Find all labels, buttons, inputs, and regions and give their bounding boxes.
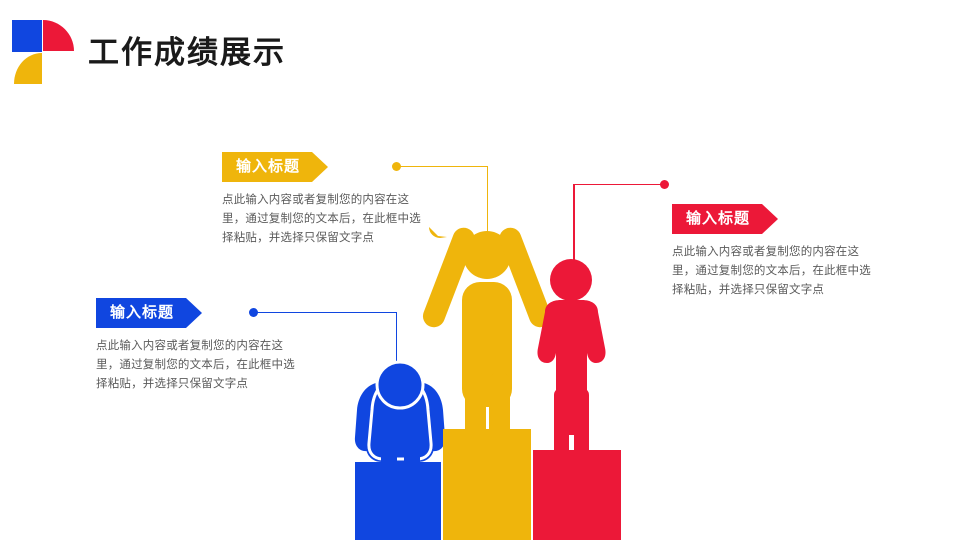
podium-block-red: [533, 450, 621, 540]
callout-yellow-body: 点此输入内容或者复制您的内容在这里，通过复制您的文本后，在此框中选择粘贴，并选择…: [222, 191, 427, 248]
podium-block-yellow: [443, 429, 531, 540]
callout-yellow-badge[interactable]: 输入标题: [222, 152, 312, 182]
callout-yellow[interactable]: 输入标题 点此输入内容或者复制您的内容在这里，通过复制您的文本后，在此框中选择粘…: [222, 152, 427, 248]
callout-blue-badge[interactable]: 输入标题: [96, 298, 186, 328]
figure-blue: [355, 362, 445, 472]
connector-dot-red: [660, 180, 669, 189]
figure-yellow: [420, 225, 555, 472]
figure-red: [537, 259, 605, 460]
connector-line-yellow-vertical: [487, 166, 489, 238]
connector-line-blue-vertical: [396, 312, 398, 370]
page-title: 工作成绩展示: [88, 34, 286, 72]
slide-header: 工作成绩展示: [0, 0, 960, 110]
podium-block-blue: [355, 462, 441, 540]
brand-logo-mark-icon: [12, 18, 76, 90]
callout-red-badge[interactable]: 输入标题: [672, 204, 762, 234]
callout-red-body: 点此输入内容或者复制您的内容在这里，通过复制您的文本后，在此框中选择粘贴，并选择…: [672, 243, 877, 300]
callout-blue[interactable]: 输入标题 点此输入内容或者复制您的内容在这里，通过复制您的文本后，在此框中选择粘…: [96, 298, 301, 394]
callout-red[interactable]: 输入标题 点此输入内容或者复制您的内容在这里，通过复制您的文本后，在此框中选择粘…: [672, 204, 877, 300]
callout-blue-body: 点此输入内容或者复制您的内容在这里，通过复制您的文本后，在此框中选择粘贴，并选择…: [96, 337, 301, 394]
connector-line-red-vertical: [573, 184, 575, 268]
slide-canvas: 工作成绩展示 输入标题 点此输入内容或者复制您的内容在这里，通过复制您的文本后，…: [0, 0, 960, 540]
connector-line-red-horizontal: [573, 184, 661, 186]
